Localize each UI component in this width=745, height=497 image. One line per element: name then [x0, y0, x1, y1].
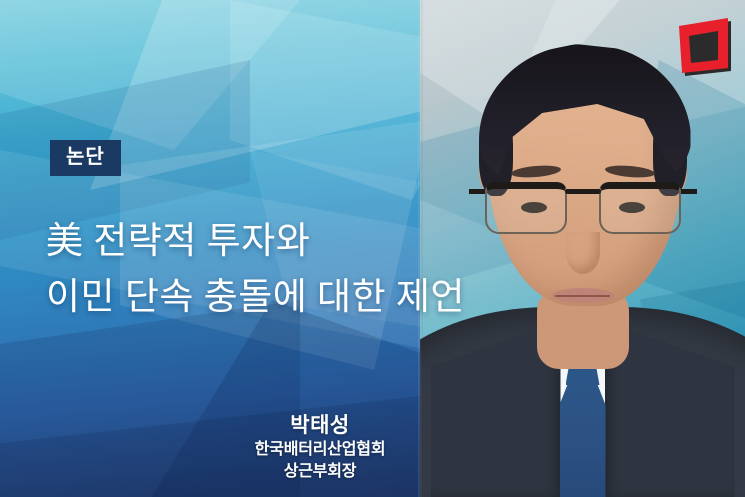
red-angular-frame-icon[interactable]	[673, 16, 731, 76]
author-name: 박태성	[228, 412, 412, 439]
eyeglass-bridge	[565, 189, 601, 194]
mouth	[552, 288, 614, 303]
headline-line-2: 이민 단속 충돌에 대한 제언	[46, 270, 516, 326]
nose	[566, 232, 600, 274]
category-badge: 논단	[50, 140, 121, 176]
necktie	[560, 379, 606, 497]
headline-line-1: 美 전략적 투자와	[46, 214, 516, 270]
byline: 박태성 한국배터리산업협회 상근부회장	[228, 412, 412, 483]
eyeglass-temple-left	[469, 189, 485, 194]
page-title: 美 전략적 투자와 이민 단속 충돌에 대한 제언	[46, 214, 516, 326]
eyeglass-temple-right	[681, 189, 697, 194]
article-card-news: 논단 美 전략적 투자와 이민 단속 충돌에 대한 제언 박태성 한국배터리산업…	[0, 0, 745, 497]
author-organization: 한국배터리산업협회	[228, 439, 412, 461]
eyeglass-lens-right	[599, 182, 681, 234]
author-position: 상근부회장	[228, 461, 412, 483]
